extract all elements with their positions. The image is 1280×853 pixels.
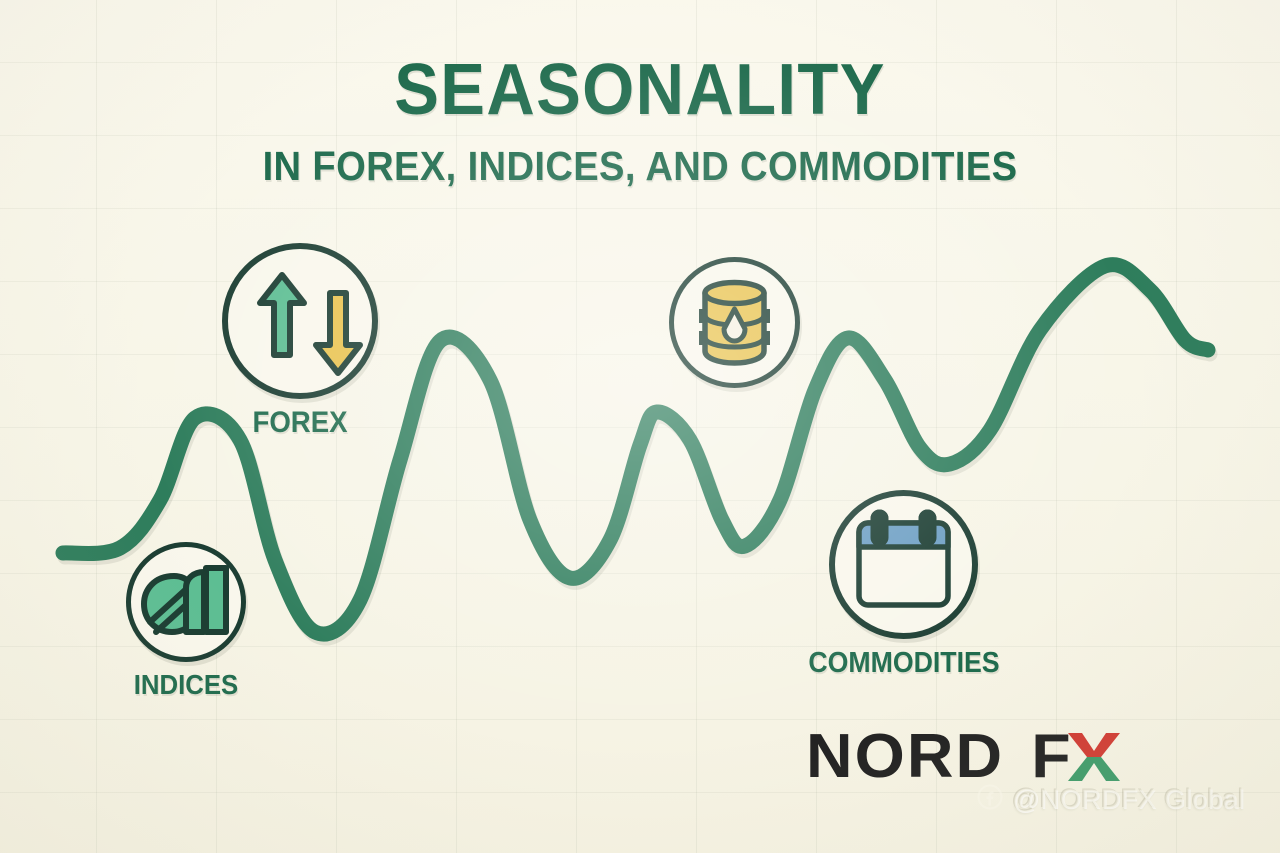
oil-barrel-icon	[669, 257, 800, 388]
watermark: @NORDFX Global	[977, 784, 1245, 815]
infographic-canvas: SEASONALITY IN FOREX, INDICES, AND COMMO…	[0, 0, 1280, 853]
logo-word-nord: NORD	[806, 722, 1004, 791]
logo-letter-x-icon	[1066, 729, 1122, 785]
badge-indices-label: INDICES	[134, 669, 238, 701]
badge-forex-label: FOREX	[252, 406, 347, 440]
arrows-up-down-icon	[222, 243, 378, 399]
page-title: SEASONALITY	[45, 54, 1235, 126]
facebook-f-icon	[977, 784, 1003, 815]
calendar-icon	[829, 490, 978, 639]
pie-bar-chart-icon	[126, 542, 246, 662]
badge-commodities-label: COMMODITIES	[808, 647, 999, 680]
page-subtitle: IN FOREX, INDICES, AND COMMODITIES	[45, 146, 1235, 187]
badge-commodities[interactable]: COMMODITIES	[829, 490, 978, 639]
watermark-handle: @NORDFX Global	[1012, 784, 1245, 815]
badge-barrel[interactable]	[669, 257, 800, 388]
nordfx-logo[interactable]: NORDF	[806, 726, 1122, 788]
badge-forex[interactable]: FOREX	[222, 243, 378, 399]
badge-indices[interactable]: INDICES	[126, 542, 246, 662]
